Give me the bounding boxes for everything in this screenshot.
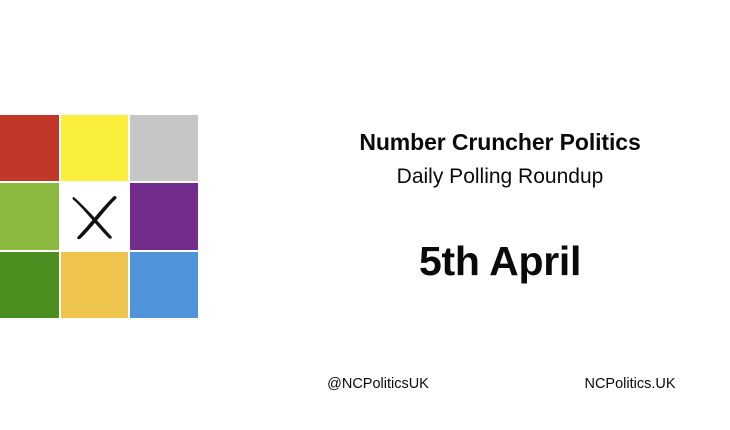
logo-cell-middle-center — [61, 183, 129, 249]
footer: @NCPoliticsUK NCPolitics.UK — [0, 374, 730, 398]
website-url[interactable]: NCPolitics.UK — [520, 374, 730, 394]
slide-date: 5th April — [275, 239, 725, 284]
brand-title: Number Cruncher Politics — [275, 128, 725, 157]
logo-cell-top-right — [130, 115, 198, 181]
headline-block: Number Cruncher Politics Daily Polling R… — [275, 128, 725, 284]
brand-subtitle: Daily Polling Roundup — [275, 163, 725, 190]
logo-cell-top-center — [61, 115, 129, 181]
logo-cell-bottom-center — [61, 252, 129, 318]
logo-cell-bottom-right — [130, 252, 198, 318]
logo-cell-bottom-left — [0, 252, 59, 318]
twitter-handle[interactable]: @NCPoliticsUK — [248, 374, 508, 394]
number-cruncher-politics-logo — [0, 115, 198, 318]
ballot-x-icon — [68, 190, 120, 242]
logo-cell-middle-left — [0, 183, 59, 249]
logo-cell-middle-right — [130, 183, 198, 249]
title-slide: Number Cruncher Politics Daily Polling R… — [0, 0, 730, 430]
logo-cell-top-left — [0, 115, 59, 181]
